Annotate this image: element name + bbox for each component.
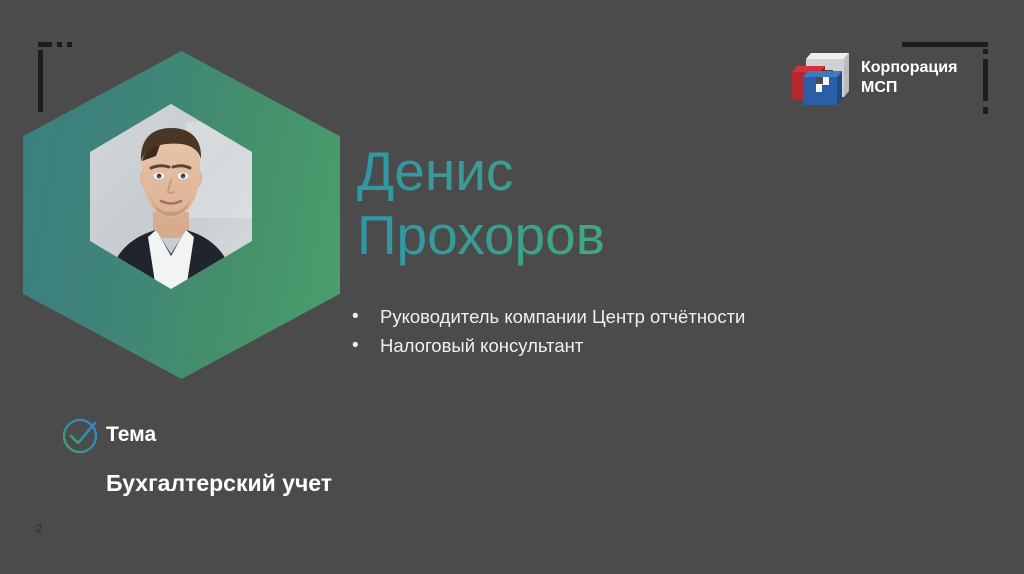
page-number: 2 [36, 523, 42, 535]
korporaciya-msp-logo-icon [789, 47, 851, 109]
speaker-name: Денис Прохоров [357, 140, 777, 268]
speaker-first-name: Денис [357, 140, 777, 204]
bullet-icon: • [352, 303, 380, 332]
bullet-icon: • [352, 332, 380, 361]
topic-label: Тема [106, 423, 156, 447]
topic-value: Бухгалтерский учет [106, 470, 488, 497]
logo-text: Корпорация МСП [861, 58, 957, 98]
topic-block: Тема Бухгалтерский учет [58, 412, 488, 497]
topic-heading-row: Тема [58, 412, 488, 458]
speaker-last-name: Прохоров [357, 204, 777, 268]
logo-text-line1: Корпорация [861, 58, 957, 78]
list-item: • Налоговый консультант [352, 332, 752, 361]
list-item-label: Руководитель компании Центр отчётности [380, 303, 752, 331]
list-item-label: Налоговый консультант [380, 332, 752, 360]
check-circle-icon [58, 412, 104, 458]
slide-root: Денис Прохоров • Руководитель компании Ц… [0, 0, 1024, 574]
bracket-vertical-dashed [983, 49, 988, 114]
avatar-hexagon [23, 51, 340, 379]
bracket-horizontal-dashed [38, 42, 72, 47]
list-item: • Руководитель компании Центр отчётности [352, 303, 752, 332]
corporate-logo: Корпорация МСП [789, 47, 957, 109]
speaker-roles-list: • Руководитель компании Центр отчётности… [352, 303, 752, 361]
logo-text-line2: МСП [861, 78, 957, 98]
